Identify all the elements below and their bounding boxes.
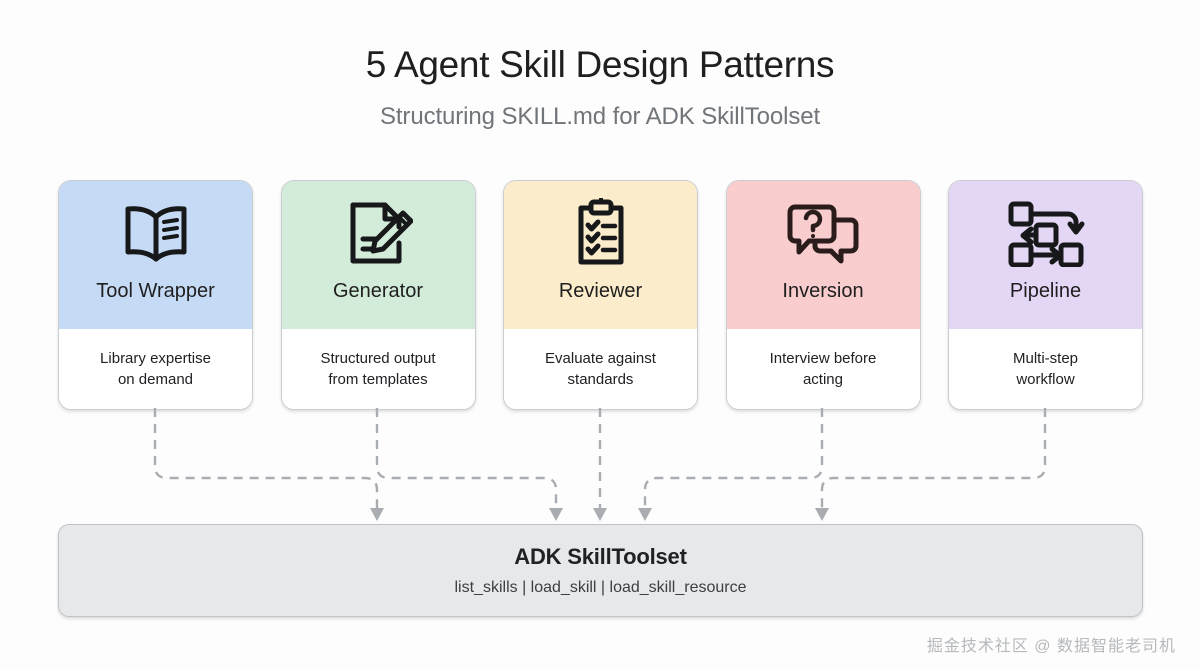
card-header: Reviewer	[504, 181, 697, 329]
pattern-card-inversion[interactable]: Inversion Interview before acting	[726, 180, 921, 410]
card-header: Pipeline	[949, 181, 1142, 329]
open-book-icon	[119, 187, 193, 279]
clipboard-checklist-icon	[569, 187, 633, 279]
card-description: Evaluate against standards	[545, 348, 656, 391]
card-title: Reviewer	[559, 281, 642, 301]
card-body: Interview before acting	[727, 329, 920, 409]
card-description: Multi-step workflow	[1013, 348, 1078, 391]
card-description: Structured output from templates	[320, 348, 435, 391]
card-title: Tool Wrapper	[96, 281, 215, 301]
pattern-card-generator[interactable]: Generator Structured output from templat…	[281, 180, 476, 410]
card-header: Inversion	[727, 181, 920, 329]
connector-lines	[0, 408, 1200, 528]
question-speech-bubbles-icon	[785, 187, 861, 279]
card-description: Interview before acting	[770, 348, 877, 391]
pattern-card-reviewer[interactable]: Reviewer Evaluate against standards	[503, 180, 698, 410]
diagram-canvas: 5 Agent Skill Design Patterns Structurin…	[0, 0, 1200, 670]
pattern-card-pipeline[interactable]: Pipeline Multi-step workflow	[948, 180, 1143, 410]
card-title: Generator	[333, 281, 423, 301]
toolset-title: ADK SkillToolset	[514, 544, 686, 570]
watermark: 掘金技术社区 @ 数据智能老司机	[927, 632, 1176, 656]
card-header: Generator	[282, 181, 475, 329]
card-body: Multi-step workflow	[949, 329, 1142, 409]
card-title: Pipeline	[1010, 281, 1081, 301]
adk-skilltoolset-bar[interactable]: ADK SkillToolset list_skills | load_skil…	[58, 524, 1143, 617]
document-pencil-icon	[343, 187, 413, 279]
page-title: 5 Agent Skill Design Patterns	[0, 44, 1200, 86]
pattern-card-tool-wrapper[interactable]: Tool Wrapper Library expertise on demand	[58, 180, 253, 410]
card-header: Tool Wrapper	[59, 181, 252, 329]
page-subtitle: Structuring SKILL.md for ADK SkillToolse…	[0, 103, 1200, 131]
toolset-tools-list: list_skills | load_skill | load_skill_re…	[455, 579, 747, 597]
card-body: Evaluate against standards	[504, 329, 697, 409]
card-title: Inversion	[782, 281, 863, 301]
card-body: Structured output from templates	[282, 329, 475, 409]
card-body: Library expertise on demand	[59, 329, 252, 409]
pipeline-flow-icon	[1006, 187, 1086, 279]
card-description: Library expertise on demand	[100, 348, 211, 391]
pattern-card-row: Tool Wrapper Library expertise on demand	[58, 180, 1143, 410]
